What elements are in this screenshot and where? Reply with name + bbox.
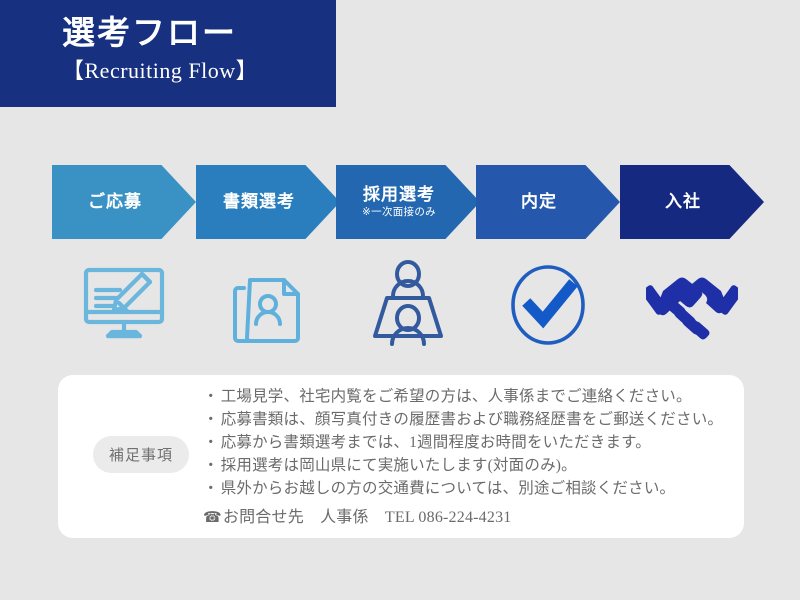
flow-icon-cell-3 bbox=[336, 252, 480, 358]
list-item: ・応募書類は、顔写真付きの履歴書および職務経歴書をご郵送ください。 bbox=[203, 408, 732, 431]
flow-step-label: 採用選考 bbox=[363, 185, 435, 205]
flow-icon-cell-4 bbox=[476, 252, 620, 358]
flow-step-label: 内定 bbox=[521, 192, 557, 212]
list-item: ・採用選考は岡山県にて実施いたします(対面のみ)。 bbox=[203, 454, 732, 477]
flow-step-4[interactable]: 内定 bbox=[476, 165, 620, 239]
page-title: 選考フロー bbox=[62, 14, 336, 55]
flow-step-2[interactable]: 書類選考 bbox=[196, 165, 340, 239]
flow-step-3[interactable]: 採用選考 ※一次面接のみ bbox=[336, 165, 480, 239]
flow-icon-cell-2 bbox=[196, 252, 340, 358]
page-subtitle: 【Recruiting Flow】 bbox=[62, 57, 336, 86]
list-item: ・応募から書類選考までは、1週間程度お時間をいただきます。 bbox=[203, 431, 732, 454]
flow-step-5[interactable]: 入社 bbox=[620, 165, 764, 239]
supplementary-notes-card: 補足事項 ・工場見学、社宅内覧をご希望の方は、人事係までご連絡ください。 ・応募… bbox=[58, 375, 744, 538]
flow-step-label: 書類選考 bbox=[223, 192, 295, 212]
flow-step-label: ご応募 bbox=[88, 192, 142, 212]
flow-step-label: 入社 bbox=[665, 192, 701, 212]
notes-list: ・工場見学、社宅内覧をご希望の方は、人事係までご連絡ください。 ・応募書類は、顔… bbox=[203, 385, 732, 530]
monitor-pencil-icon bbox=[78, 262, 170, 348]
flow-icon-cell-1 bbox=[52, 252, 196, 358]
flow-icons bbox=[52, 252, 764, 358]
handshake-icon bbox=[646, 265, 738, 345]
contact-line: ☎お問合せ先 人事係 TEL 086-224-4231 bbox=[203, 506, 732, 530]
list-item: ・県外からお越しの方の交通費については、別途ご相談ください。 bbox=[203, 477, 732, 500]
interview-people-icon bbox=[365, 260, 451, 350]
status-badge: 補足事項 bbox=[93, 436, 189, 473]
note-text: 応募から書類選考までは、1週間程度お時間をいただきます。 bbox=[221, 434, 651, 451]
documents-person-icon bbox=[228, 262, 308, 348]
telephone-icon: ☎ bbox=[203, 510, 222, 526]
note-text: 応募書類は、顔写真付きの履歴書および職務経歴書をご郵送ください。 bbox=[221, 411, 723, 428]
list-item: ・工場見学、社宅内覧をご希望の方は、人事係までご連絡ください。 bbox=[203, 385, 732, 408]
flow-step-sublabel: ※一次面接のみ bbox=[362, 206, 436, 219]
note-text: 工場見学、社宅内覧をご希望の方は、人事係までご連絡ください。 bbox=[221, 388, 692, 405]
note-text: 採用選考は岡山県にて実施いたします(対面のみ)。 bbox=[221, 457, 577, 474]
contact-text: お問合せ先 人事係 TEL 086-224-4231 bbox=[223, 509, 512, 526]
recruiting-flow-steps: ご応募 書類選考 採用選考 ※一次面接のみ 内定 入社 bbox=[52, 165, 764, 239]
bullet-icon: ・ bbox=[203, 388, 219, 405]
check-circle-icon bbox=[508, 262, 588, 348]
flow-step-1[interactable]: ご応募 bbox=[52, 165, 196, 239]
flow-icon-cell-5 bbox=[620, 252, 764, 358]
header-block: 選考フロー 【Recruiting Flow】 bbox=[0, 0, 336, 107]
bullet-icon: ・ bbox=[203, 411, 219, 428]
bullet-icon: ・ bbox=[203, 434, 219, 451]
note-text: 県外からお越しの方の交通費については、別途ご相談ください。 bbox=[221, 480, 676, 497]
bullet-icon: ・ bbox=[203, 480, 219, 497]
bullet-icon: ・ bbox=[203, 457, 219, 474]
